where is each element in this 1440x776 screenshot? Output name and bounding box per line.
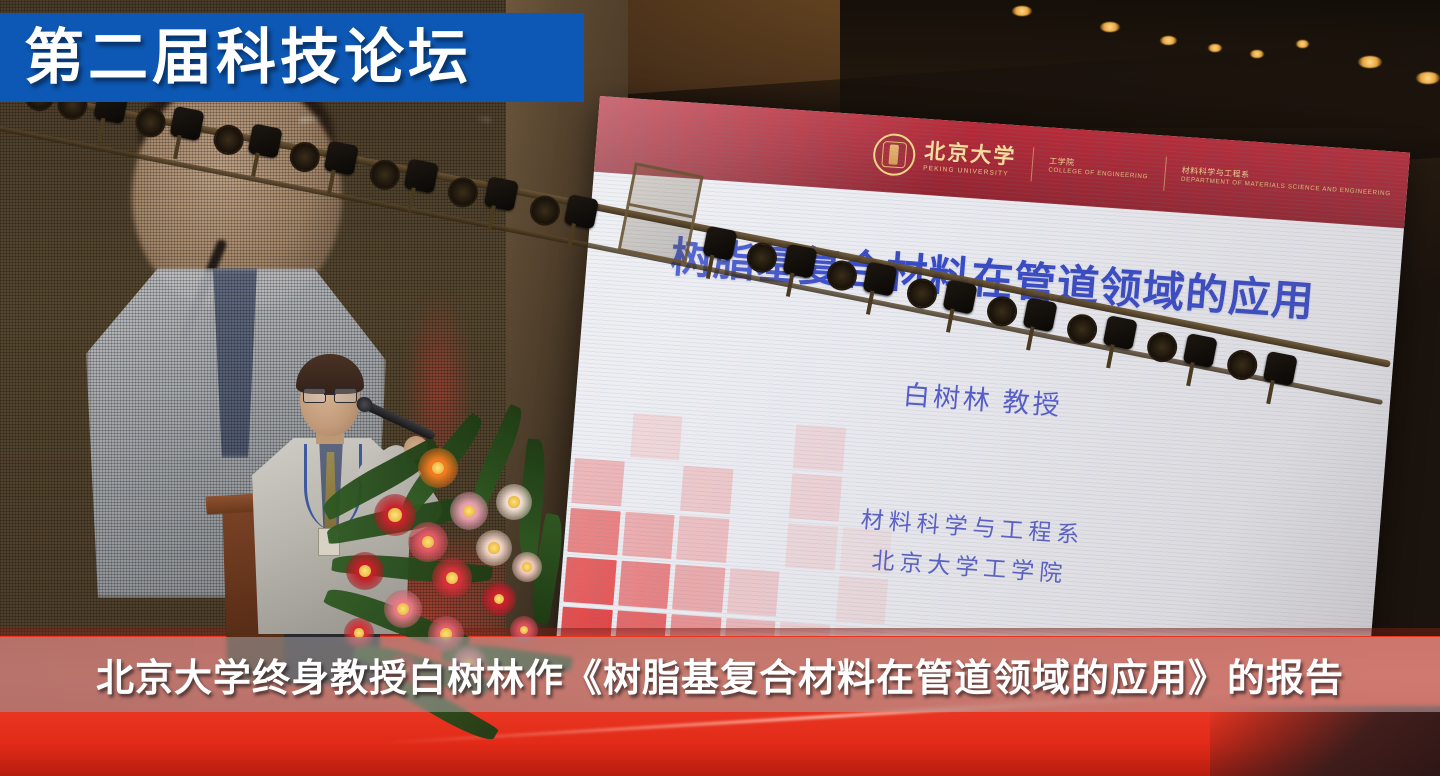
mosaic-tile <box>672 565 725 613</box>
department-identity: 材料科学与工程系 DEPARTMENT OF MATERIALS SCIENCE… <box>1181 166 1392 199</box>
stage-light-icon <box>564 194 599 229</box>
flower-bloom <box>476 530 512 566</box>
flower-bloom <box>482 582 516 616</box>
downlight-icon <box>1296 40 1309 48</box>
college-identity: 工学院 COLLEGE OF ENGINEERING <box>1048 156 1149 181</box>
downlight-icon <box>1416 72 1440 84</box>
downlight-icon <box>1250 50 1264 58</box>
stage-light-icon <box>247 123 282 158</box>
flower-bloom <box>408 522 448 562</box>
mosaic-tile <box>618 561 671 609</box>
stage-light-icon <box>862 261 897 296</box>
forum-title-text: 第二届科技论坛 <box>0 28 472 88</box>
downlight-icon <box>1208 44 1222 52</box>
flower-bloom <box>418 448 458 488</box>
downlight-icon <box>1012 6 1032 16</box>
stage-light-icon <box>1183 333 1218 368</box>
carpet-shadow <box>1210 706 1440 776</box>
stage-light-icon <box>782 244 817 279</box>
mosaic-tile <box>726 568 779 616</box>
pku-seal-icon <box>871 132 916 177</box>
truss-tower <box>618 162 704 264</box>
forum-title-badge: 第二届科技论坛 <box>0 13 584 102</box>
mosaic-tile <box>575 409 628 457</box>
downlight-icon <box>1100 22 1120 32</box>
photo-canvas: 北京大学 PEKING UNIVERSITY 工学院 COLLEGE OF EN… <box>0 0 1440 776</box>
stage-light-icon <box>133 105 168 140</box>
university-identity: 北京大学 PEKING UNIVERSITY <box>923 141 1017 179</box>
stage-light-icon <box>324 140 359 175</box>
stage-light-icon <box>169 106 204 141</box>
caption-bar: 北京大学终身教授白树林作《树脂基复合材料在管道领域的应用》的报告 <box>0 637 1440 712</box>
stage-light-icon <box>824 258 859 293</box>
flower-bloom <box>384 590 422 628</box>
university-name-cn: 北京大学 <box>924 141 1017 168</box>
mosaic-tile <box>738 421 791 469</box>
mosaic-tile <box>835 576 888 624</box>
caption-text: 北京大学终身教授白树林作《树脂基复合材料在管道领域的应用》的报告 <box>96 647 1344 702</box>
flower-bloom <box>496 484 532 520</box>
flower-bloom <box>374 494 416 536</box>
mosaic-tile <box>630 413 683 461</box>
handheld-microphone-icon <box>362 400 436 441</box>
mosaic-tile <box>684 417 737 465</box>
flower-bloom <box>512 552 542 582</box>
eyeglasses-icon <box>303 388 357 401</box>
flower-bloom <box>432 558 472 598</box>
mosaic-tile <box>781 572 834 620</box>
flower-bloom <box>450 492 488 530</box>
stage-light-icon <box>1103 315 1138 350</box>
stage-light-icon <box>404 158 439 193</box>
stage-light-icon <box>702 226 737 261</box>
stage-light-icon <box>1263 351 1298 386</box>
downlight-icon <box>1160 36 1177 45</box>
flower-bloom <box>346 552 384 590</box>
header-divider <box>1030 147 1034 181</box>
header-divider <box>1163 157 1167 191</box>
downlight-icon <box>1358 56 1382 68</box>
stage-light-icon <box>1022 297 1057 332</box>
stage-light-icon <box>942 279 977 314</box>
stage-light-icon <box>484 176 519 211</box>
